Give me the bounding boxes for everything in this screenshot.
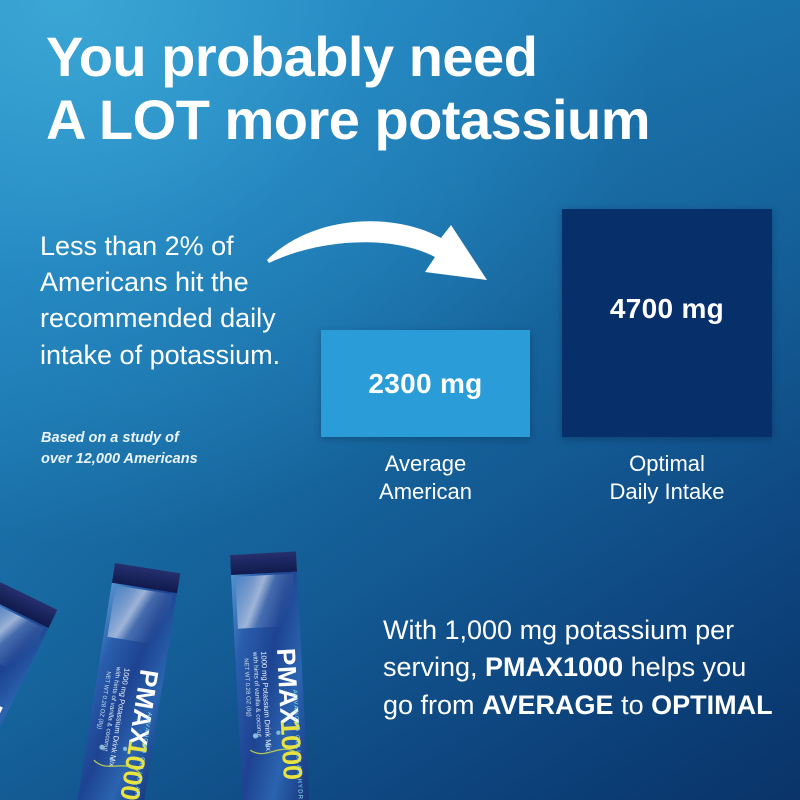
bar-optimal-caption: Optimal Daily Intake	[562, 450, 772, 506]
bar-optimal-caption-line-2: Daily Intake	[610, 479, 725, 504]
bar-optimal-value: 4700 mg	[610, 293, 724, 325]
bar-average-caption-line-2: American	[379, 479, 472, 504]
promo-bold-optimal: OPTIMAL	[651, 690, 773, 720]
bar-average-american: 2300 mg	[321, 330, 530, 437]
promo-brand: PMAX1000	[485, 652, 623, 682]
bar-average-caption: Average American	[321, 450, 530, 506]
packet-3: PMAX 1000 1000 mg Potassium Drink Mix wi…	[230, 552, 310, 800]
promo-segment-3: to	[614, 690, 652, 720]
packet-2: PMAX 1000 1000 mg Potassium Drink Mix wi…	[72, 563, 180, 800]
promo-paragraph: With 1,000 mg potassium per serving, PMA…	[383, 612, 783, 724]
page-title: You probably need A LOT more potassium	[46, 26, 786, 151]
bar-average-value: 2300 mg	[368, 368, 482, 400]
bar-optimal-caption-line-1: Optimal	[629, 451, 705, 476]
curved-arrow-icon	[255, 208, 500, 290]
headline-line-2: A LOT more potassium	[46, 89, 786, 152]
footnote-line-2: over 12,000 Americans	[41, 451, 198, 467]
packet-1: PMAX 1000 1000 mg Potassium Drink Mix wi…	[0, 581, 57, 800]
infographic-canvas: You probably need A LOT more potassium L…	[0, 0, 800, 800]
promo-bold-average: AVERAGE	[482, 690, 614, 720]
bar-average-caption-line-1: Average	[385, 451, 467, 476]
footnote-line-1: Based on a study of	[41, 430, 179, 446]
headline-line-1: You probably need	[46, 25, 537, 88]
study-footnote: Based on a study of over 12,000 American…	[41, 428, 311, 470]
product-packets-image: PMAX 1000 1000 mg Potassium Drink Mix wi…	[0, 545, 370, 800]
bar-optimal-intake: 4700 mg	[562, 209, 772, 437]
svg-text:PMAX: PMAX	[271, 647, 305, 726]
svg-text:PMAX: PMAX	[0, 696, 9, 779]
